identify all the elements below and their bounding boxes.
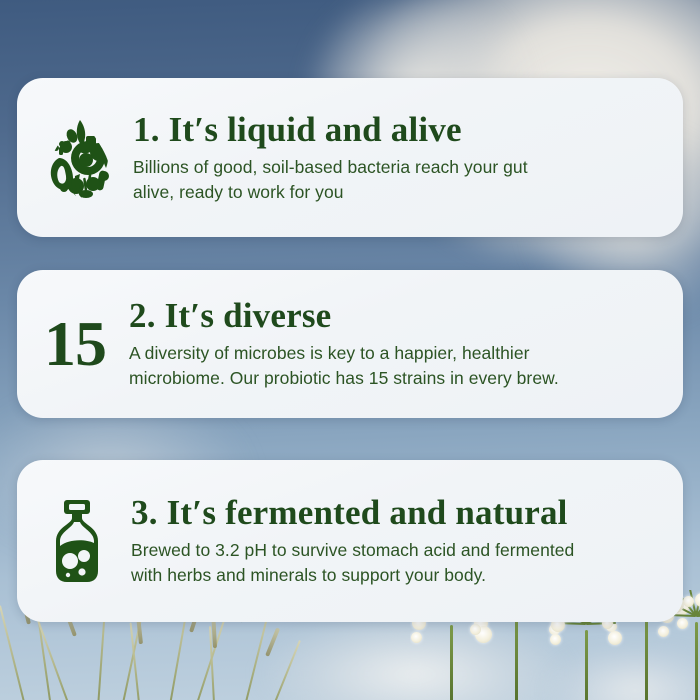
card-2-body-line-1: A diversity of microbes is key to a happ… [129,343,530,363]
card-1-body: Billions of good, soil-based bacteria re… [133,155,669,205]
card-3-text: 3. It′s fermented and natural Brewed to … [131,494,683,588]
card-1-body-line-2: alive, ready to work for you [133,182,344,202]
card-1-heading: 1. It′s liquid and alive [133,111,669,149]
card-2-body-line-2: microbiome. Our probiotic has 15 strains… [129,368,559,388]
card-3-icon-slot [17,460,131,622]
card-3-body-line-1: Brewed to 3.2 pH to survive stomach acid… [131,540,574,560]
umbel-stem [450,625,453,700]
card-2-text: 2. It′s diverse A diversity of microbes … [129,297,683,391]
card-3-body: Brewed to 3.2 pH to survive stomach acid… [131,538,669,588]
card-1-icon-slot [17,78,133,237]
number-15-badge: 15 [44,312,106,376]
umbel-stem [695,622,698,700]
umbel-floret [677,618,688,629]
umbel-floret [695,593,700,607]
card-1-text: 1. It′s liquid and alive Billions of goo… [133,111,683,205]
feature-card-1[interactable]: 1. It′s liquid and alive Billions of goo… [17,78,683,237]
infographic-canvas: 1. It′s liquid and alive Billions of goo… [0,0,700,700]
card-1-body-line-1: Billions of good, soil-based bacteria re… [133,157,528,177]
card-3-heading: 3. It′s fermented and natural [131,494,669,532]
umbel-stem [645,610,648,700]
feature-card-2[interactable]: 15 2. It′s diverse A diversity of microb… [17,270,683,418]
grass-seed-head [265,627,280,656]
umbel-ray [696,614,700,617]
umbel-floret [550,634,561,645]
card-2-body: A diversity of microbes is key to a happ… [129,341,669,391]
umbel-floret [608,631,622,645]
card-2-icon-slot: 15 [17,270,129,418]
umbel-floret [683,596,694,607]
umbel-floret [470,624,481,635]
droplet-of-vegetables-icon [42,114,116,202]
umbel-floret [411,632,422,643]
grass-seed-head [211,618,217,648]
umbel-stem [585,630,588,700]
card-3-body-line-2: with herbs and minerals to support your … [131,565,486,585]
umbel-floret [658,626,669,637]
card-2-heading: 2. It′s diverse [129,297,669,335]
bottle-with-bubbles-icon [47,499,107,583]
feature-card-3[interactable]: 3. It′s fermented and natural Brewed to … [17,460,683,622]
